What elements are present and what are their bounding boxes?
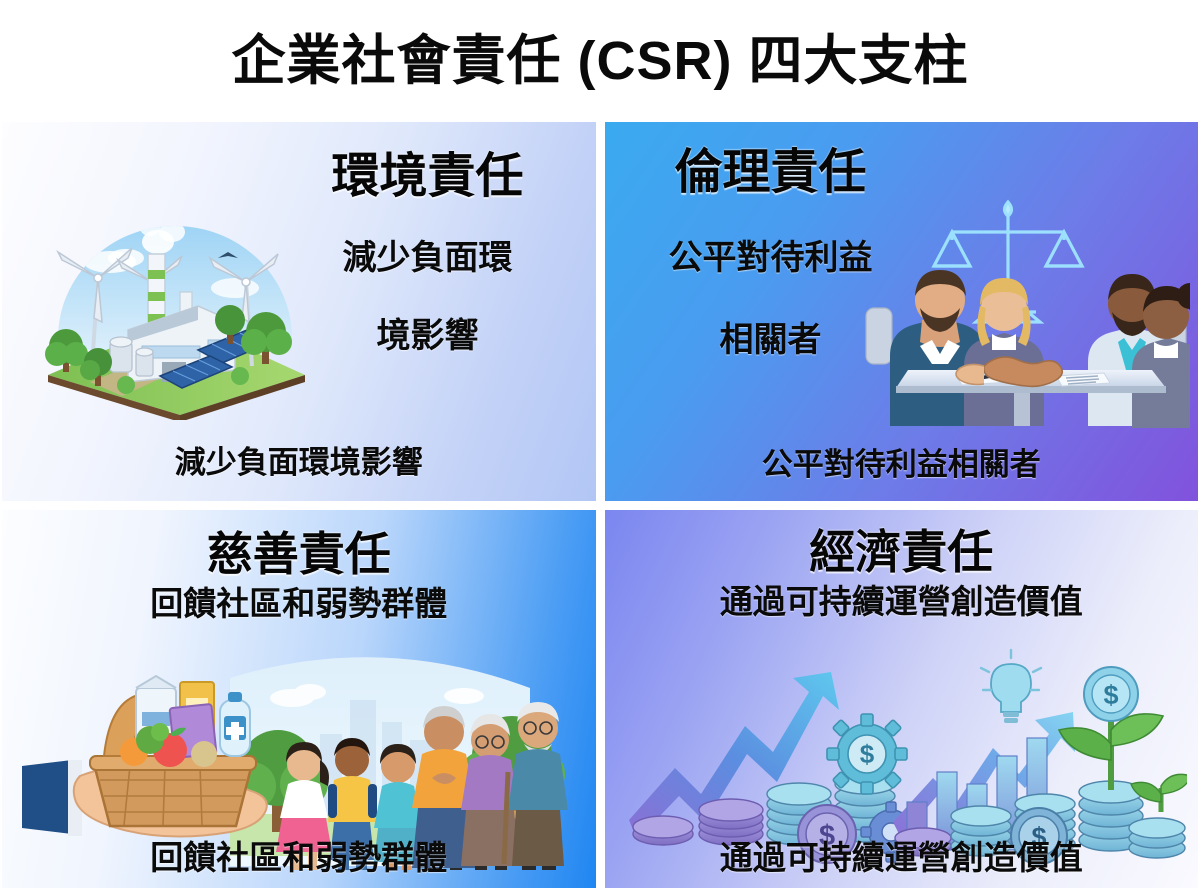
pillar-card-environmental[interactable]: 環境責任 減少負面環 境影響 減少負面環境影響 (2, 122, 596, 501)
header: 企業社會責任 (CSR) 四大支柱 (0, 0, 1200, 122)
svg-text:$: $ (1103, 680, 1118, 710)
pillar-title: 經濟責任 (605, 528, 1199, 576)
pillar-card-ethical[interactable]: 倫理責任 公平對待利益 相關者 公平對待利益相關者 (605, 122, 1199, 501)
pillar-caption-philanthropic: 回饋社區和弱勢群體 (2, 840, 596, 876)
pillar-subtitle-line2: 境影響 (278, 316, 578, 357)
pillar-subtitle-line1: 減少負面環 (278, 238, 578, 279)
pillar-text-philanthropic: 慈善責任 回饋社區和弱勢群體 (2, 510, 596, 625)
pillar-card-philanthropic[interactable]: 慈善責任 回饋社區和弱勢群體 (2, 510, 596, 889)
pillar-text-economic: 經濟責任 通過可持續運營創造價值 (605, 510, 1199, 623)
page-title: 企業社會責任 (CSR) 四大支柱 (232, 34, 969, 88)
pillar-title: 環境責任 (278, 152, 578, 202)
handshake-scales-icon (860, 180, 1190, 428)
pillar-caption-ethical: 公平對待利益相關者 (605, 448, 1199, 482)
pillar-grid: 環境責任 減少負面環 境影響 減少負面環境影響 (0, 122, 1200, 896)
charity-basket-community-icon (20, 648, 586, 870)
pillar-caption-environmental: 減少負面環境影響 (2, 446, 596, 480)
pillar-title: 慈善責任 (2, 530, 596, 578)
factory-wind-solar-icon (30, 170, 320, 420)
pillar-caption-economic: 通過可持續運營創造價值 (605, 840, 1199, 876)
pillar-text-environmental: 環境責任 減少負面環 境影響 (278, 122, 596, 357)
growth-coins-chart-icon: $ (627, 644, 1187, 870)
csr-infographic: 企業社會責任 (CSR) 四大支柱 (0, 0, 1200, 896)
pillar-subtitle-line1: 通過可持續運營創造價值 (605, 582, 1199, 622)
pillar-card-economic[interactable]: 經濟責任 通過可持續運營創造價值 (605, 510, 1199, 889)
svg-text:$: $ (859, 739, 874, 769)
pillar-subtitle-line1: 回饋社區和弱勢群體 (2, 584, 596, 624)
